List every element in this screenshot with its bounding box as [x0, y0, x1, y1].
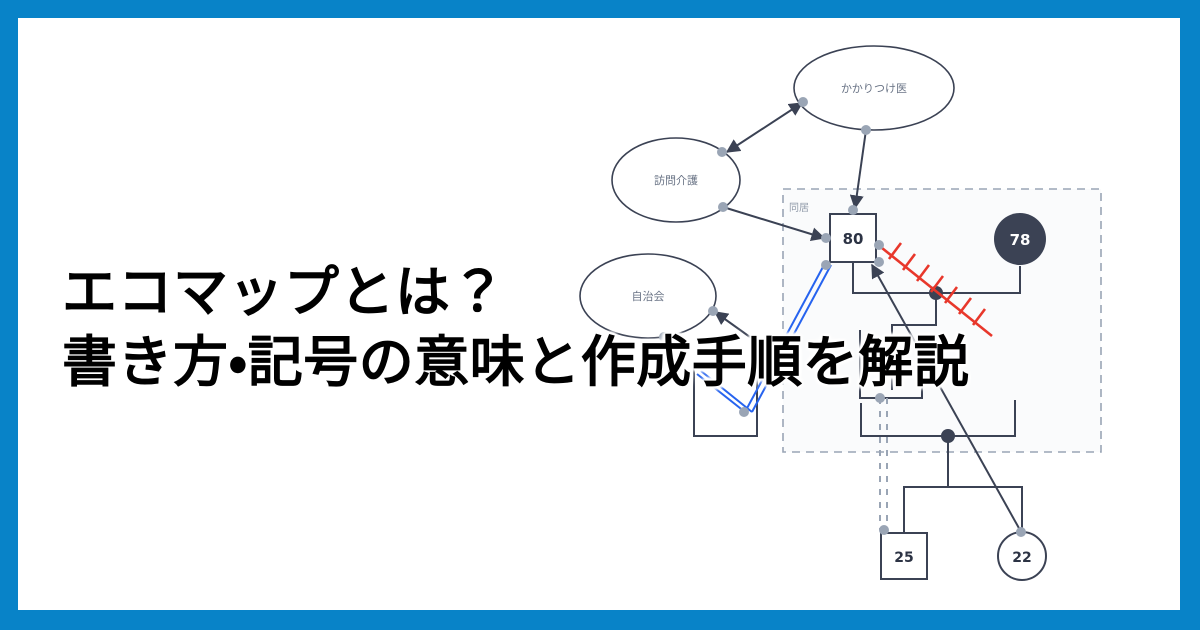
external-node-doctor[interactable]: かかりつけ医: [794, 46, 954, 130]
frame-border-left: [0, 0, 18, 630]
female22-label: 22: [1012, 550, 1031, 566]
male80-label: 80: [843, 230, 864, 248]
frame-border-bottom: [0, 610, 1200, 630]
anchor-male80-right-upper[interactable]: [874, 240, 884, 250]
female78-label: 78: [1010, 231, 1031, 249]
relation-homecare-doctor: [727, 103, 802, 152]
anchor-male80-top[interactable]: [848, 205, 858, 215]
frame-border-right: [1180, 0, 1200, 630]
anchor-female22-top[interactable]: [1016, 527, 1026, 537]
household-label: 同居: [789, 202, 809, 214]
anchor-left-bracket[interactable]: [739, 407, 749, 417]
anchor-male80-left[interactable]: [821, 233, 831, 243]
family-node-female78[interactable]: 78: [994, 213, 1046, 265]
frame-border-top: [0, 0, 1200, 18]
headline-line-2: 書き方・記号の意味と作成手順を解説: [62, 332, 969, 394]
marriage-dot-lower: [941, 429, 955, 443]
headline-block: エコマップとは？ 書き方・記号の意味と作成手順を解説: [62, 262, 969, 393]
homecare-label: 訪問介護: [654, 173, 698, 187]
male25-label: 25: [894, 550, 913, 566]
doctor-label: かかりつけ医: [841, 82, 907, 95]
anchor-doctor-left[interactable]: [798, 97, 808, 107]
family-node-female22[interactable]: 22: [998, 532, 1046, 580]
anchor-male25-top[interactable]: [879, 525, 889, 535]
anchor-doctor-bottom[interactable]: [861, 125, 871, 135]
ecomap-og-image: 同居: [0, 0, 1200, 630]
anchor-homecare-bottomright[interactable]: [718, 202, 728, 212]
anchor-homecare-topright[interactable]: [717, 147, 727, 157]
family-node-male80[interactable]: 80: [830, 214, 876, 262]
family-node-male25[interactable]: 25: [881, 533, 927, 579]
child-line-22: [948, 487, 1022, 532]
anchor-sibling-bracket[interactable]: [875, 393, 885, 403]
headline-line-1: エコマップとは？: [62, 262, 969, 324]
